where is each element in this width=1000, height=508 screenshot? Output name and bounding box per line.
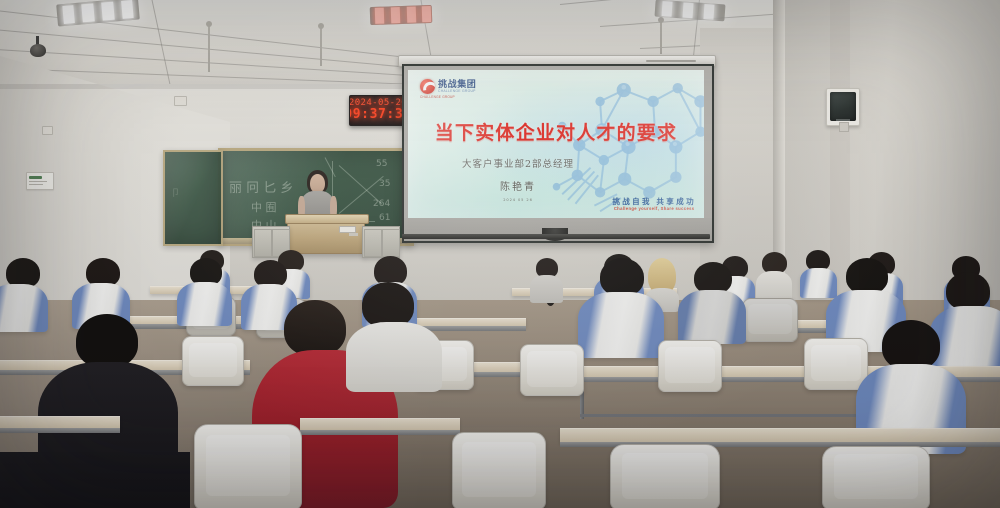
logo-brand-cn: 挑战集团	[438, 80, 476, 89]
chalk-writing-4: 55	[376, 159, 387, 169]
slide-subtitle: 大客户事业部2部总经理	[408, 156, 666, 170]
chair-foreground-d[interactable]	[452, 432, 546, 508]
tagline-cn: 挑战自我 共享成功	[612, 198, 696, 207]
logo-brand-en: CHALLENGE GROUP	[438, 90, 476, 93]
side-chalkboard-left: 卩	[163, 150, 223, 246]
speaker-grill	[830, 92, 857, 122]
slide-presenter-name: 陈艳青	[408, 178, 666, 193]
ceiling-hanger-rod-3	[660, 20, 662, 54]
chalk-side-text: 卩	[171, 186, 180, 199]
warm-ceiling-light	[370, 5, 433, 25]
hair	[76, 314, 138, 368]
led-wall-clock: 2024-05-26 09:37:37	[349, 95, 407, 126]
uniform-shirt	[930, 306, 1000, 372]
chalk-writing-1: 丽 冋 匕 乡	[229, 177, 293, 196]
chair-foreground-a[interactable]	[194, 424, 302, 508]
chair-row2-d[interactable]	[742, 298, 798, 342]
hair	[600, 258, 644, 296]
uniform-shirt	[0, 284, 48, 332]
wall-sign-plate	[26, 172, 54, 190]
desk-edge	[300, 430, 460, 435]
chalk-writing-5: 35	[379, 179, 390, 189]
projected-slide: 挑战集团 CHALLENGE GROUP CHALLENGE GROUP 当下实…	[408, 70, 704, 218]
podium-control-panel[interactable]	[339, 226, 356, 233]
screen-weight-bar	[402, 234, 710, 239]
uniform-shirt	[578, 292, 664, 358]
classroom-presentation-photo: 2024-05-26 09:37:37 丽 冋 匕 乡 中 囿 中 山 55 3…	[0, 0, 1000, 508]
av-cabinet-right	[362, 226, 400, 258]
slide-company-logo: 挑战集团 CHALLENGE GROUP	[420, 79, 476, 94]
logo-text-stack: 挑战集团 CHALLENGE GROUP	[438, 80, 476, 94]
chalk-writing-2: 中 囿	[251, 199, 277, 215]
torso	[530, 275, 563, 303]
clock-bracket	[373, 95, 383, 96]
podium-cable	[349, 233, 358, 236]
hair	[846, 258, 888, 294]
foreground-shadow	[0, 452, 190, 508]
challenge-logo-icon	[420, 79, 435, 94]
hair	[284, 300, 346, 356]
chalk-writing-7: 61	[379, 213, 390, 223]
clock-time: 09:37:37	[349, 108, 407, 122]
screen-housing-cap	[646, 60, 697, 63]
hair	[946, 272, 990, 310]
torso	[756, 271, 792, 301]
uniform-shirt	[678, 290, 746, 344]
chair-row3-d[interactable]	[658, 340, 722, 392]
desk-edge	[0, 428, 120, 433]
wall-socket[interactable]	[174, 96, 187, 106]
wall-socket-2[interactable]	[42, 126, 53, 135]
hair	[882, 320, 940, 370]
uniform-shirt	[177, 282, 232, 326]
speaker-mount	[839, 122, 849, 132]
tagline-en: Challenge yourself, Share success	[612, 207, 696, 212]
wall-speaker	[826, 88, 860, 126]
desk-rail	[580, 414, 870, 417]
ceiling-hanger-rod-1	[208, 24, 210, 72]
slide-title: 当下实体企业对人才的要求	[408, 118, 704, 145]
projection-screen: 挑战集团 CHALLENGE GROUP CHALLENGE GROUP 当下实…	[402, 64, 714, 243]
chair-foreground-b[interactable]	[610, 444, 720, 508]
ceiling-camera	[30, 44, 46, 57]
chair-foreground-c[interactable]	[822, 446, 930, 508]
cabinet-door-right-2[interactable]	[382, 229, 400, 256]
desk-foreground-mid	[300, 418, 460, 431]
uniform-shirt	[800, 268, 837, 298]
podium-top	[285, 214, 369, 224]
logo-brand-en-red: CHALLENGE GROUP	[420, 96, 455, 99]
chair-row3-c[interactable]	[520, 344, 584, 396]
cabinet-door-left-2[interactable]	[364, 229, 382, 256]
torso	[346, 322, 442, 392]
cabinet-door-left[interactable]	[254, 229, 272, 256]
podium	[287, 218, 365, 254]
desk-foreground-right	[560, 428, 1000, 443]
ceiling-hanger-rod-2	[320, 26, 322, 66]
desk-foreground-left	[0, 416, 120, 429]
chair-row3-a[interactable]	[182, 336, 244, 386]
chair-row3-e[interactable]	[804, 338, 868, 390]
slide-tagline: 挑战自我 共享成功 Challenge yourself, Share succ…	[612, 198, 696, 212]
